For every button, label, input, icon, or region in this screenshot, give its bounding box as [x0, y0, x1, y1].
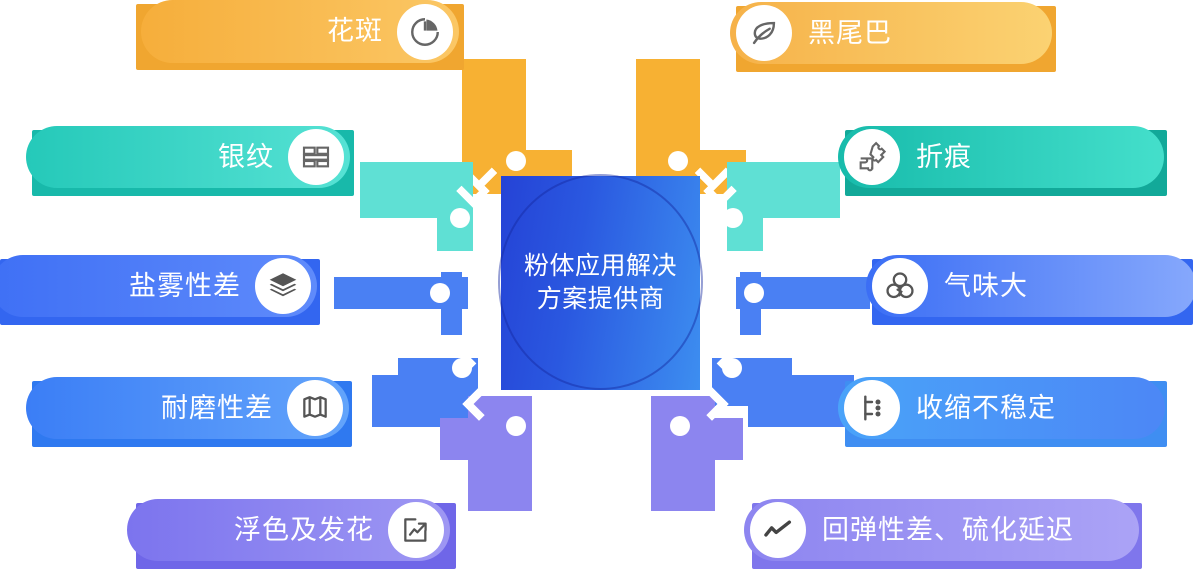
puzzle-piece-icon	[844, 129, 900, 185]
connector-dot	[506, 416, 526, 436]
connector-dot	[506, 151, 526, 171]
node-label: 耐磨性差	[161, 395, 273, 422]
node-label: 花斑	[327, 18, 383, 45]
leaf-icon	[736, 5, 792, 61]
chart-arrow-up-icon	[388, 502, 444, 558]
node-yan-wu-xing-cha[interactable]: 盐雾性差	[0, 255, 317, 317]
infographic-canvas: 粉体应用解决 方案提供商 花斑 黑尾巴 银纹	[0, 0, 1193, 577]
node-label: 银纹	[218, 144, 274, 171]
pie-chart-icon	[397, 4, 453, 60]
connector-dot	[670, 416, 690, 436]
recycle-icon	[872, 258, 928, 314]
node-nai-mo-xing-cha[interactable]: 耐磨性差	[26, 377, 349, 439]
layers-icon	[255, 258, 311, 314]
node-label: 浮色及发花	[234, 517, 374, 544]
center-label: 粉体应用解决 方案提供商	[501, 176, 700, 390]
sitemap-icon	[844, 380, 900, 436]
node-label: 盐雾性差	[129, 273, 241, 300]
connector-dot	[450, 208, 470, 228]
node-label: 黑尾巴	[808, 20, 892, 47]
connector-segment	[740, 272, 761, 335]
connector-segment	[441, 272, 462, 335]
center-label-line1: 粉体应用解决	[524, 250, 677, 283]
node-shou-suo-bu-wen-ding[interactable]: 收缩不稳定	[838, 377, 1165, 439]
connector-dot	[744, 283, 764, 303]
center-node: 粉体应用解决 方案提供商	[501, 176, 700, 390]
brick-wall-icon	[288, 129, 344, 185]
node-label: 折痕	[916, 144, 972, 171]
node-yin-wen[interactable]: 银纹	[26, 126, 350, 188]
connector-segment	[727, 162, 763, 251]
connector-segment	[437, 162, 473, 251]
node-hei-wei-ba[interactable]: 黑尾巴	[730, 2, 1052, 64]
node-hua-ban[interactable]: 花斑	[141, 0, 459, 63]
connector-segment	[651, 418, 743, 460]
line-chart-icon	[750, 502, 806, 558]
node-qi-wei-da[interactable]: 气味大	[866, 255, 1193, 317]
connector-dot	[668, 151, 688, 171]
connector-dot	[430, 283, 450, 303]
center-label-line2: 方案提供商	[537, 283, 665, 316]
node-fu-se-ji-fa-hua[interactable]: 浮色及发花	[127, 499, 450, 561]
node-zhe-hen[interactable]: 折痕	[838, 126, 1164, 188]
node-label: 回弹性差、硫化延迟	[822, 517, 1074, 544]
node-hui-tan-xing-cha[interactable]: 回弹性差、硫化延迟	[744, 499, 1139, 561]
connector-dot	[723, 208, 743, 228]
open-book-icon	[287, 380, 343, 436]
node-label: 收缩不稳定	[916, 395, 1056, 422]
node-label: 气味大	[944, 273, 1028, 300]
